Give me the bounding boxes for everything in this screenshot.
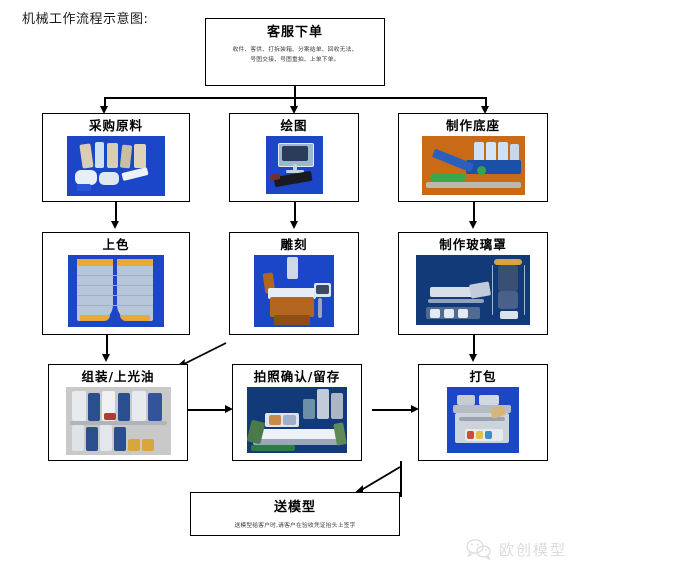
arrowhead-to-engraving <box>290 221 298 229</box>
node-purchase-label: 采购原料 <box>43 119 189 133</box>
node-order: 客服下单 收件、客供、打拆装箱、分案结单、回收无法、 号图交接、号图重拍、上单下… <box>205 18 385 86</box>
node-base-photo-wrap <box>399 136 547 195</box>
node-order-subline-1: 收件、客供、打拆装箱、分案结单、回收无法、 <box>210 45 381 54</box>
node-engraving-label: 雕刻 <box>230 238 358 252</box>
node-coloring: 上色 <box>42 232 190 335</box>
painted-parts-photo <box>68 255 164 327</box>
model-photo-confirm-photo <box>247 387 347 453</box>
node-glasscover-label: 制作玻璃罩 <box>399 238 547 252</box>
node-photoconfirm: 拍照确认/留存 <box>232 364 362 461</box>
node-glasscover: 制作玻璃罩 <box>398 232 548 335</box>
raw-materials-photo <box>67 136 165 196</box>
arrowhead-to-assembly <box>102 354 110 362</box>
glass-cover-photo <box>416 255 530 325</box>
workflow-diagram: 机械工作流程示意图: 客服下单 收件、客供、打拆装箱、分案结单、回收无法、 号图… <box>0 0 692 577</box>
assembly-photo <box>66 387 171 455</box>
node-photoconfirm-label: 拍照确认/留存 <box>233 370 361 384</box>
node-base: 制作底座 <box>398 113 548 202</box>
node-packing-label: 打包 <box>419 370 547 384</box>
arrowhead-to-packing <box>469 354 477 362</box>
wechat-icon <box>466 538 492 560</box>
node-purchase: 采购原料 <box>42 113 190 202</box>
model-base-photo <box>422 136 525 195</box>
node-glasscover-photo-wrap <box>399 255 547 325</box>
connector-assembly-to-photoconfirm <box>188 409 226 411</box>
connector-photoconfirm-to-packing <box>372 409 412 411</box>
node-assembly-photo-wrap <box>49 387 187 455</box>
watermark: 欧创模型 <box>466 538 567 560</box>
node-packing-photo-wrap <box>419 387 547 453</box>
node-base-label: 制作底座 <box>399 119 547 133</box>
node-drawing: 绘图 <box>229 113 359 202</box>
node-coloring-photo-wrap <box>43 255 189 327</box>
packing-machine-photo <box>447 387 519 453</box>
arrowhead-to-glasscover <box>469 221 477 229</box>
node-packing: 打包 <box>418 364 548 461</box>
node-purchase-photo-wrap <box>43 136 189 196</box>
node-delivery: 送模型 送模型给客户时,请客户在验收凭证抬头上签字 <box>190 492 400 536</box>
node-drawing-photo-wrap <box>230 136 358 194</box>
node-order-label: 客服下单 <box>206 26 384 40</box>
node-delivery-subline-1: 送模型给客户时,请客户在验收凭证抬头上签字 <box>195 521 395 530</box>
cad-monitor-photo <box>266 136 323 194</box>
engraving-machine-photo <box>254 255 334 327</box>
node-delivery-label: 送模型 <box>191 501 399 515</box>
node-photoconfirm-photo-wrap <box>233 387 361 453</box>
node-coloring-label: 上色 <box>43 238 189 252</box>
node-order-subline-2: 号图交接、号图重拍、上单下单。 <box>210 55 381 64</box>
watermark-brand: 欧创模型 <box>499 539 567 560</box>
arrowhead-to-coloring <box>111 221 119 229</box>
node-assembly: 组装/上光油 <box>48 364 188 461</box>
node-engraving-photo-wrap <box>230 255 358 327</box>
node-engraving: 雕刻 <box>229 232 359 335</box>
node-assembly-label: 组装/上光油 <box>49 370 187 384</box>
page-title: 机械工作流程示意图: <box>22 8 148 27</box>
node-drawing-label: 绘图 <box>230 119 358 133</box>
